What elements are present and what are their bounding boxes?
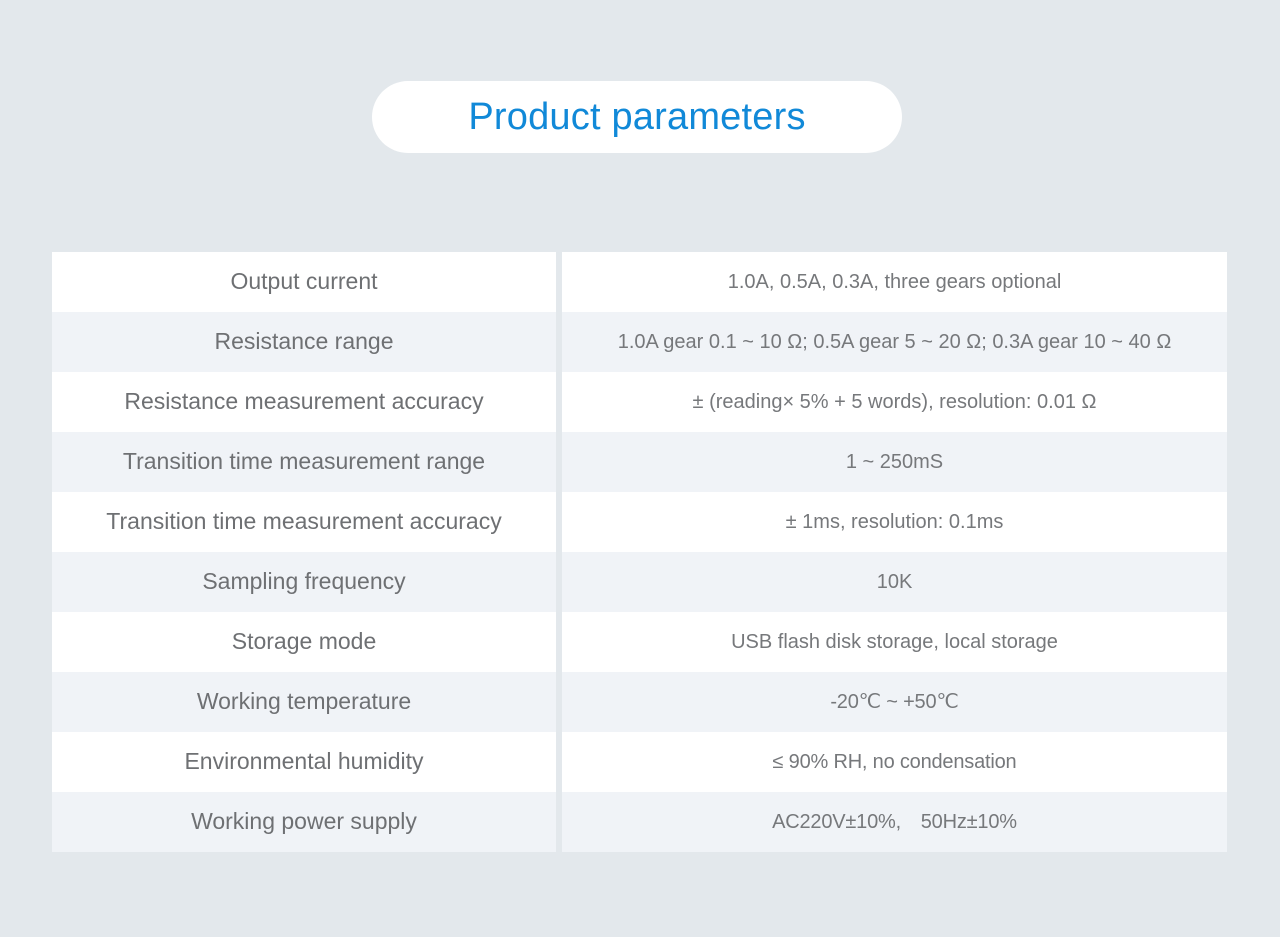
spec-label-text: Sampling frequency	[202, 569, 405, 594]
spec-value-text: AC220V±10%, 50Hz±10%	[772, 811, 1017, 833]
table-row: Transition time measurement range 1 ~ 25…	[52, 432, 1227, 492]
spec-value-text: ± 1ms, resolution: 0.1ms	[786, 511, 1004, 533]
spec-label-text: Resistance measurement accuracy	[124, 389, 483, 414]
spec-value-text: 10K	[877, 571, 913, 593]
spec-value-text: 1.0A, 0.5A, 0.3A, three gears optional	[728, 271, 1062, 293]
spec-value-cell: 1.0A gear 0.1 ~ 10 Ω; 0.5A gear 5 ~ 20 Ω…	[562, 312, 1227, 372]
spec-label-text: Working temperature	[197, 689, 411, 714]
spec-value-cell: 1.0A, 0.5A, 0.3A, three gears optional	[562, 252, 1227, 312]
spec-label-text: Environmental humidity	[184, 749, 423, 774]
spec-label-text: Transition time measurement range	[123, 449, 485, 474]
table-row: Environmental humidity ≤ 90% RH, no cond…	[52, 732, 1227, 792]
table-row: Resistance measurement accuracy ± (readi…	[52, 372, 1227, 432]
spec-label-cell: Sampling frequency	[52, 552, 556, 612]
spec-label-cell: Working power supply	[52, 792, 556, 852]
spec-value-cell: ± (reading× 5% + 5 words), resolution: 0…	[562, 372, 1227, 432]
table-row: Sampling frequency 10K	[52, 552, 1227, 612]
spec-label-cell: Output current	[52, 252, 556, 312]
spec-value-text: USB flash disk storage, local storage	[731, 631, 1058, 653]
spec-value-text: ± (reading× 5% + 5 words), resolution: 0…	[693, 391, 1097, 413]
spec-label-cell: Transition time measurement range	[52, 432, 556, 492]
spec-value-cell: AC220V±10%, 50Hz±10%	[562, 792, 1227, 852]
page-title: Product parameters	[468, 98, 805, 136]
spec-value-text: 1.0A gear 0.1 ~ 10 Ω; 0.5A gear 5 ~ 20 Ω…	[618, 331, 1172, 353]
table-row: Resistance range 1.0A gear 0.1 ~ 10 Ω; 0…	[52, 312, 1227, 372]
spec-label-cell: Resistance range	[52, 312, 556, 372]
spec-value-cell: 10K	[562, 552, 1227, 612]
spec-label-text: Working power supply	[191, 809, 417, 834]
spec-label-text: Transition time measurement accuracy	[106, 509, 501, 534]
spec-value-text: -20℃ ~ +50℃	[830, 691, 958, 713]
table-row: Transition time measurement accuracy ± 1…	[52, 492, 1227, 552]
spec-label-text: Storage mode	[232, 629, 376, 654]
table-row: Output current 1.0A, 0.5A, 0.3A, three g…	[52, 252, 1227, 312]
spec-label-cell: Working temperature	[52, 672, 556, 732]
product-parameters-page: Product parameters Output current 1.0A, …	[0, 0, 1280, 937]
spec-value-cell: -20℃ ~ +50℃	[562, 672, 1227, 732]
table-row: Working power supply AC220V±10%, 50Hz±10…	[52, 792, 1227, 852]
spec-value-cell: USB flash disk storage, local storage	[562, 612, 1227, 672]
table-row: Storage mode USB flash disk storage, loc…	[52, 612, 1227, 672]
spec-label-cell: Transition time measurement accuracy	[52, 492, 556, 552]
spec-value-cell: ± 1ms, resolution: 0.1ms	[562, 492, 1227, 552]
spec-value-text: ≤ 90% RH, no condensation	[773, 751, 1017, 773]
spec-label-text: Resistance range	[215, 329, 394, 354]
spec-value-text: 1 ~ 250mS	[846, 451, 943, 473]
specification-table: Output current 1.0A, 0.5A, 0.3A, three g…	[52, 252, 1227, 852]
spec-value-cell: ≤ 90% RH, no condensation	[562, 732, 1227, 792]
page-title-pill: Product parameters	[372, 81, 902, 153]
spec-label-cell: Storage mode	[52, 612, 556, 672]
spec-label-text: Output current	[230, 269, 377, 294]
table-row: Working temperature -20℃ ~ +50℃	[52, 672, 1227, 732]
spec-label-cell: Resistance measurement accuracy	[52, 372, 556, 432]
spec-value-cell: 1 ~ 250mS	[562, 432, 1227, 492]
spec-label-cell: Environmental humidity	[52, 732, 556, 792]
